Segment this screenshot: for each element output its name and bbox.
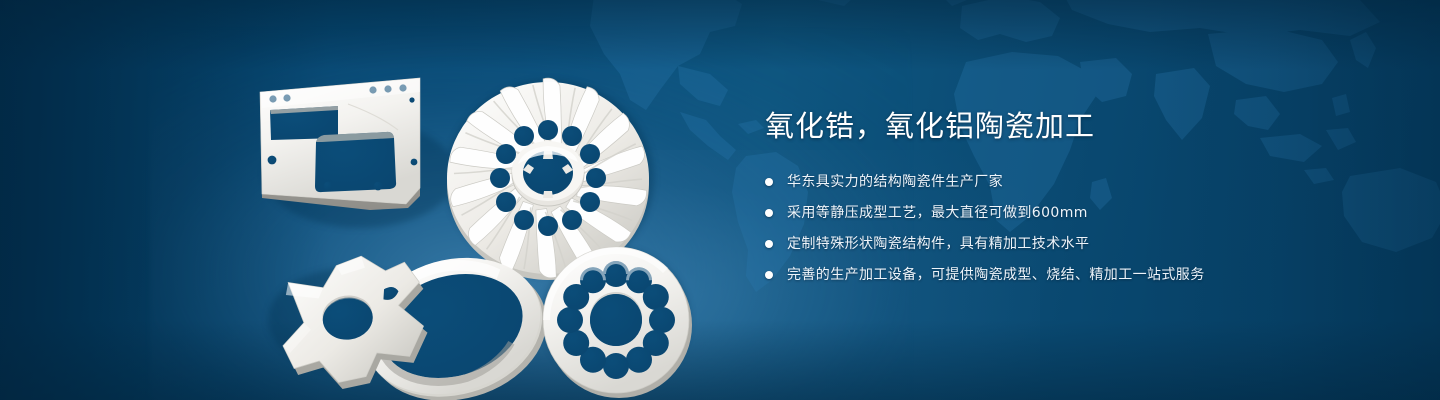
list-item: 定制特殊形状陶瓷结构件，具有精加工技术水平 [765, 234, 1365, 255]
list-item-label: 定制特殊形状陶瓷结构件，具有精加工技术水平 [787, 236, 1089, 252]
bullet-dot-icon [765, 209, 773, 217]
page-title: 氧化锆，氧化铝陶瓷加工 [765, 108, 1365, 144]
list-item: 华东具实力的结构陶瓷件生产厂家 [765, 172, 1365, 193]
list-item-label: 完善的生产加工设备，可提供陶瓷成型、烧结、精加工一站式服务 [787, 267, 1205, 283]
bullet-dot-icon [765, 271, 773, 279]
list-item: 采用等静压成型工艺，最大直径可做到600mm [765, 203, 1365, 224]
product-ceramic-perforated-disc [543, 247, 692, 398]
product-image-group [230, 38, 730, 390]
list-item-label: 华东具实力的结构陶瓷件生产厂家 [787, 174, 1003, 190]
list-item: 完善的生产加工设备，可提供陶瓷成型、烧结、精加工一站式服务 [765, 265, 1365, 286]
product-ceramic-plate [260, 78, 420, 210]
bullet-dot-icon [765, 178, 773, 186]
list-item-label: 采用等静压成型工艺，最大直径可做到600mm [787, 205, 1088, 221]
bullet-dot-icon [765, 240, 773, 248]
feature-list: 华东具实力的结构陶瓷件生产厂家 采用等静压成型工艺，最大直径可做到600mm 定… [765, 172, 1365, 286]
banner-copy: 氧化锆，氧化铝陶瓷加工 华东具实力的结构陶瓷件生产厂家 采用等静压成型工艺，最大… [765, 108, 1365, 296]
hero-banner: 氧化锆，氧化铝陶瓷加工 华东具实力的结构陶瓷件生产厂家 采用等静压成型工艺，最大… [0, 0, 1440, 400]
